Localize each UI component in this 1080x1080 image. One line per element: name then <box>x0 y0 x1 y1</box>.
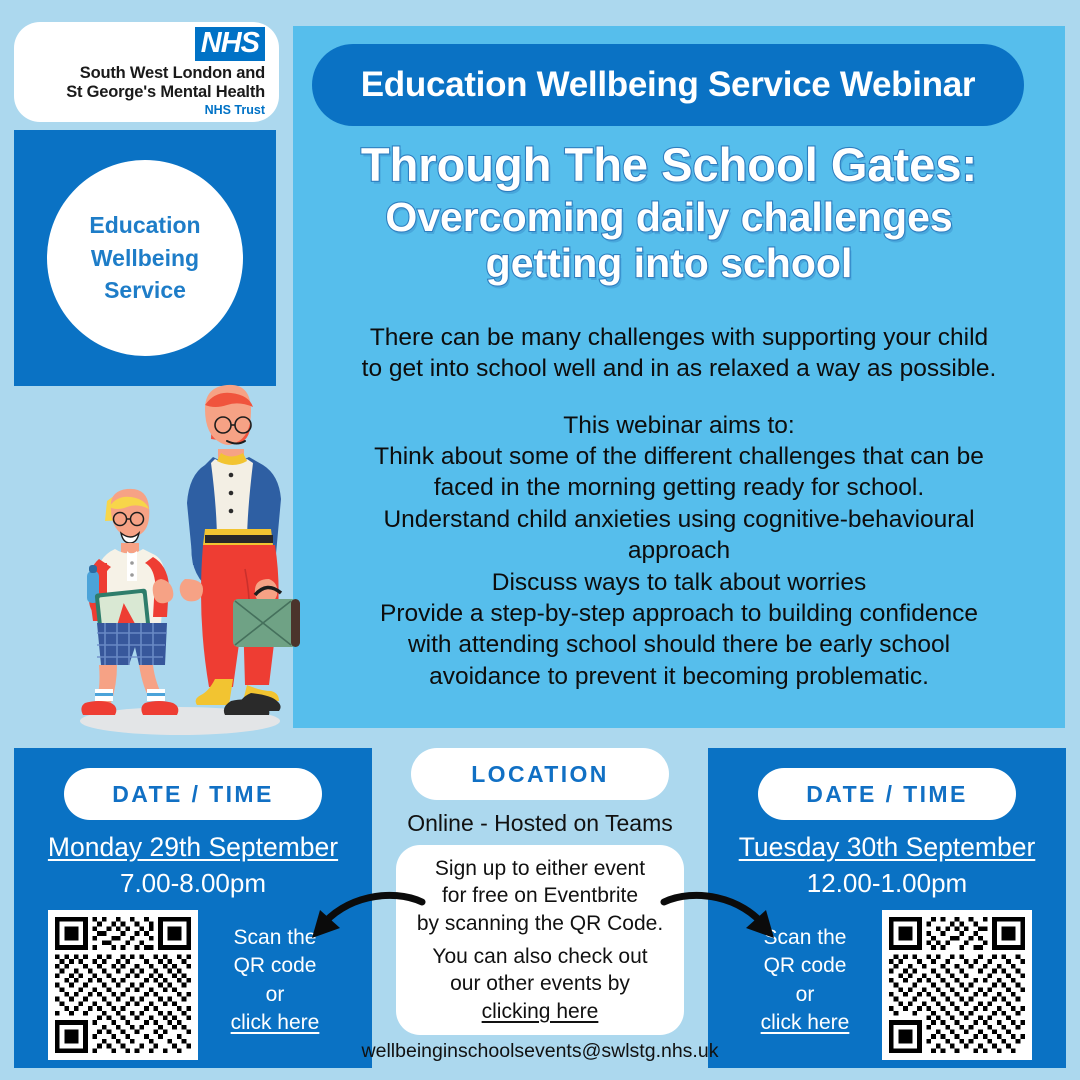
parent-child-icon <box>55 383 305 743</box>
date-time-pill-left-label: DATE / TIME <box>112 781 273 808</box>
service-badge-line2: Wellbeing <box>91 244 199 273</box>
headline-line2: Overcoming daily challenges <box>313 195 1025 239</box>
scan-left-line3: or <box>200 981 350 1009</box>
date-time-pill-left: DATE / TIME <box>64 768 322 820</box>
arrow-to-left-panel <box>296 880 426 960</box>
qr-code-right-icon <box>889 917 1025 1053</box>
parent-and-child-illustration <box>55 383 305 743</box>
curved-arrow-right-icon <box>660 880 790 960</box>
aim-line-5: Discuss ways to talk about worries <box>317 567 1041 598</box>
nhs-trust-name-line2: St George's Mental Health <box>66 83 265 101</box>
nhs-trust-name: South West London and St George's Mental… <box>66 64 265 101</box>
intro-line-1: There can be many challenges with suppor… <box>317 322 1041 353</box>
aims-heading: This webinar aims to: <box>317 410 1041 441</box>
qr-code-right[interactable] <box>882 910 1032 1060</box>
other-events-line1: You can also check out <box>432 943 647 970</box>
nhs-trust-name-line1: South West London and <box>66 64 265 82</box>
contact-email[interactable]: wellbeinginschoolsevents@swlstg.nhs.uk <box>340 1040 740 1063</box>
body-copy: There can be many challenges with suppor… <box>317 322 1041 692</box>
aim-line-6: Provide a step-by-step approach to build… <box>317 598 1041 629</box>
signup-line3: by scanning the QR Code. <box>417 910 663 937</box>
service-badge-line3: Service <box>104 276 186 305</box>
service-badge-line1: Education <box>89 211 200 240</box>
aim-line-3: Understand child anxieties using cogniti… <box>317 504 1041 535</box>
arrow-to-right-panel <box>660 880 790 960</box>
intro-line-2: to get into school well and in as relaxe… <box>317 353 1041 384</box>
event-left-date: Monday 29th September <box>14 832 372 863</box>
curved-arrow-left-icon <box>296 880 426 960</box>
location-value: Online - Hosted on Teams <box>390 810 690 837</box>
aim-line-7: with attending school should there be ea… <box>317 629 1041 660</box>
headline: Through The School Gates: Overcoming dai… <box>313 140 1025 285</box>
scan-right-line3: or <box>730 981 880 1009</box>
webinar-title-banner: Education Wellbeing Service Webinar <box>312 44 1024 126</box>
location-pill-label: LOCATION <box>471 761 609 788</box>
aim-line-4: approach <box>317 535 1041 566</box>
main-content-panel: Education Wellbeing Service Webinar Thro… <box>293 26 1065 728</box>
aim-line-8: avoidance to prevent it becoming problem… <box>317 661 1041 692</box>
event-right-date: Tuesday 30th September <box>708 832 1066 863</box>
qr-code-left[interactable] <box>48 910 198 1060</box>
click-here-link-left[interactable]: click here <box>200 1009 350 1037</box>
nhs-trust-suffix: NHS Trust <box>205 103 265 117</box>
signup-info-card: Sign up to either event for free on Even… <box>396 845 684 1035</box>
headline-line3: getting into school <box>313 241 1025 285</box>
date-time-pill-right: DATE / TIME <box>758 768 1016 820</box>
nhs-logo-icon: NHS <box>195 27 265 61</box>
nhs-trust-logo: NHS South West London and St George's Me… <box>14 22 279 122</box>
location-pill: LOCATION <box>411 748 669 800</box>
qr-code-left-icon <box>55 917 191 1053</box>
date-time-pill-right-label: DATE / TIME <box>806 781 967 808</box>
service-badge-circle: Education Wellbeing Service <box>47 160 243 356</box>
click-here-link-right[interactable]: click here <box>730 1009 880 1037</box>
page-title: Education Wellbeing Service Webinar <box>361 65 975 105</box>
signup-line2: for free on Eventbrite <box>442 882 638 909</box>
service-badge: Education Wellbeing Service <box>14 130 276 386</box>
other-events-line2: our other events by <box>450 970 630 997</box>
clicking-here-link[interactable]: clicking here <box>482 998 599 1025</box>
poster-root: NHS South West London and St George's Me… <box>0 0 1080 1080</box>
aim-line-2: faced in the morning getting ready for s… <box>317 472 1041 503</box>
aim-line-1: Think about some of the different challe… <box>317 441 1041 472</box>
headline-line1: Through The School Gates: <box>313 140 1025 191</box>
paragraph-spacer <box>317 385 1041 410</box>
signup-line1: Sign up to either event <box>435 855 645 882</box>
